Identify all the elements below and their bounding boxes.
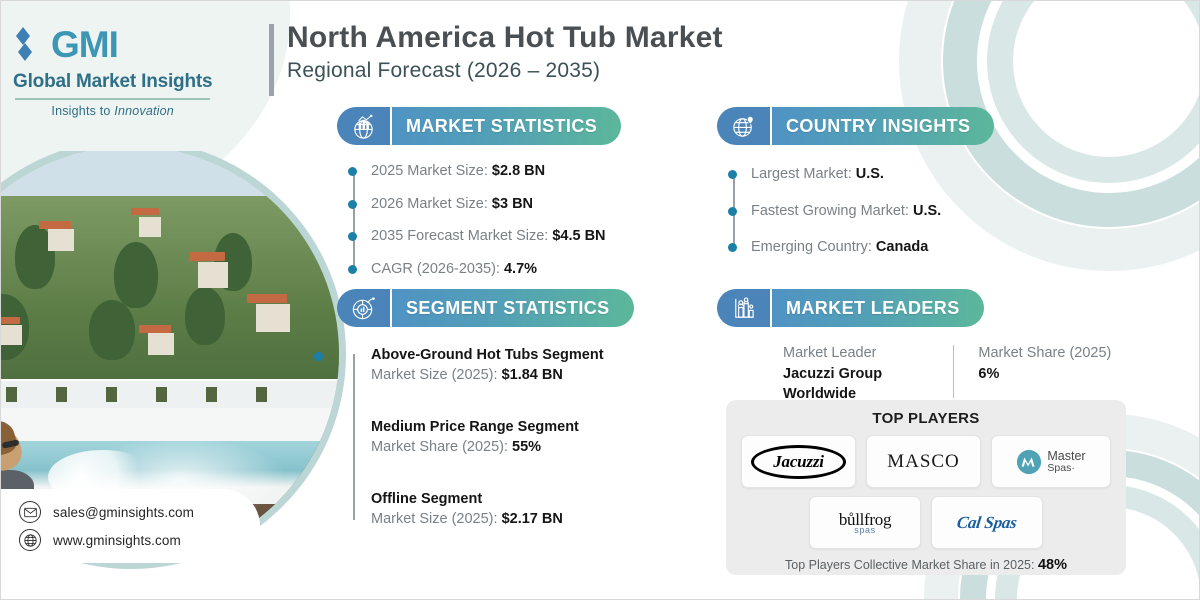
envelope-icon	[19, 501, 41, 523]
list-item: Fastest Growing Market: U.S.	[751, 202, 994, 222]
globe-pin-icon	[717, 107, 770, 145]
segment-metric-value: $1.84 BN	[502, 367, 563, 383]
stat-label: CAGR (2026-2035):	[371, 261, 504, 277]
donut-chart-icon	[337, 289, 390, 327]
contact-website: www.gminsights.com	[53, 533, 181, 548]
hot-tub-rim	[1, 408, 339, 441]
insight-label: Largest Market:	[751, 166, 856, 182]
stat-value: 4.7%	[504, 261, 537, 277]
tagline-part-1: Insights to	[51, 104, 114, 118]
market-statistics-list: 2025 Market Size: $2.8 BN 2026 Market Si…	[337, 162, 621, 279]
master-spas-line1: Master	[1047, 450, 1085, 463]
brand-tagline: Insights to Innovation	[13, 104, 212, 118]
timeline-dot	[348, 200, 357, 209]
segment-title: Offline Segment	[371, 491, 634, 507]
top-players-row-2: bůllfrog spas Cal Spas	[740, 496, 1112, 549]
segment-statistics-label: SEGMENT STATISTICS	[392, 289, 634, 327]
timeline-line	[353, 169, 355, 272]
arc-ring-hairline	[981, 1, 1199, 189]
market-share-value: 6%	[978, 365, 1111, 385]
stat-label: 2025 Market Size:	[371, 163, 492, 179]
brand-name: Global Market Insights	[13, 71, 212, 93]
insight-value: U.S.	[913, 203, 941, 219]
stat-value: $3 BN	[492, 196, 533, 212]
insight-value: U.S.	[856, 166, 884, 182]
list-item: Medium Price Range Segment Market Share …	[371, 419, 634, 455]
master-spas-line2: Spas·	[1047, 463, 1085, 474]
insight-label: Emerging Country:	[751, 239, 876, 255]
page-title: North America Hot Tub Market	[287, 19, 723, 57]
top-players-row-1: Jacuzzi MASCO Master Spas·	[740, 435, 1112, 488]
segment-statistics-list: Above-Ground Hot Tubs Segment Market Siz…	[337, 347, 634, 527]
collective-share-value: 48%	[1038, 557, 1067, 573]
stat-value: $2.8 BN	[492, 163, 545, 179]
segment-title: Above-Ground Hot Tubs Segment	[371, 347, 634, 363]
timeline-dot	[348, 265, 357, 274]
segment-metric-label: Market Size (2025):	[371, 511, 502, 527]
leaders-divider	[953, 345, 954, 398]
master-spas-mark-icon	[1016, 449, 1042, 475]
list-item: Emerging Country: Canada	[751, 238, 994, 258]
gmi-diamond-logo-icon	[13, 23, 47, 65]
market-leader-name-line1: Jacuzzi Group	[783, 365, 953, 385]
list-item: Largest Market: U.S.	[751, 165, 994, 185]
section-segment-statistics: SEGMENT STATISTICS Above-Ground Hot Tubs…	[337, 289, 634, 527]
cal-spas-wordmark: Cal Spas	[956, 513, 1018, 533]
segment-metric-label: Market Size (2025):	[371, 367, 502, 383]
insight-value: Canada	[876, 239, 928, 255]
list-item: 2025 Market Size: $2.8 BN	[371, 162, 621, 182]
contact-website-row[interactable]: www.gminsights.com	[19, 529, 260, 551]
stat-value: $4.5 BN	[552, 228, 605, 244]
player-logo-masco[interactable]: MASCO	[866, 435, 981, 488]
player-logo-master-spas[interactable]: Master Spas·	[991, 435, 1111, 488]
timeline-dot	[728, 207, 737, 216]
contact-panel: sales@gminsights.com www.gminsights.com	[0, 489, 260, 563]
timeline-dot	[728, 243, 737, 252]
segment-statistics-header[interactable]: SEGMENT STATISTICS	[337, 289, 634, 327]
market-leaders-header[interactable]: MARKET LEADERS	[717, 289, 1111, 327]
masco-wordmark: MASCO	[887, 451, 960, 473]
globe-bar-chart-icon	[337, 107, 390, 145]
player-logo-cal-spas[interactable]: Cal Spas	[931, 496, 1043, 549]
market-statistics-header[interactable]: MARKET STATISTICS	[337, 107, 621, 145]
segment-metric-value: 55%	[512, 439, 541, 455]
podium-ranking-icon	[717, 289, 770, 327]
list-item: Offline Segment Market Size (2025): $2.1…	[371, 491, 634, 527]
brand-divider	[15, 98, 210, 100]
balcony-railing	[1, 379, 339, 408]
timeline-dot	[728, 170, 737, 179]
list-item: CAGR (2026-2035): 4.7%	[371, 260, 621, 280]
segment-metric-value: $2.17 BN	[502, 511, 563, 527]
market-leader-label: Market Leader	[783, 343, 953, 363]
top-players-panel: TOP PLAYERS Jacuzzi MASCO Master Spas·	[726, 400, 1126, 575]
country-insights-label: COUNTRY INSIGHTS	[772, 107, 994, 145]
village-hillside	[1, 179, 339, 387]
page-header: North America Hot Tub Market Regional Fo…	[269, 19, 723, 83]
segment-title: Medium Price Range Segment	[371, 419, 634, 435]
country-insights-header[interactable]: COUNTRY INSIGHTS	[717, 107, 994, 145]
logo-letter-m: M	[79, 26, 109, 63]
stat-label: 2035 Forecast Market Size:	[371, 228, 552, 244]
list-item: 2035 Forecast Market Size: $4.5 BN	[371, 227, 621, 247]
timeline-line	[353, 354, 355, 520]
brand-logo[interactable]: GMI Global Market Insights Insights to I…	[13, 23, 212, 118]
timeline-dot	[348, 167, 357, 176]
page-subtitle: Regional Forecast (2026 – 2035)	[287, 59, 723, 83]
header-accent-bar	[269, 24, 274, 96]
top-players-footer: Top Players Collective Market Share in 2…	[740, 557, 1112, 573]
contact-email: sales@gminsights.com	[53, 505, 194, 520]
section-country-insights: COUNTRY INSIGHTS Largest Market: U.S. Fa…	[717, 107, 994, 258]
globe-icon	[19, 529, 41, 551]
list-item: Above-Ground Hot Tubs Segment Market Siz…	[371, 347, 634, 383]
country-insights-list: Largest Market: U.S. Fastest Growing Mar…	[717, 165, 994, 258]
arc-ring-inner	[987, 1, 1199, 183]
section-market-statistics: MARKET STATISTICS 2025 Market Size: $2.8…	[337, 107, 621, 279]
tagline-part-2: Innovation	[114, 104, 174, 118]
stat-label: 2026 Market Size:	[371, 196, 492, 212]
contact-email-row[interactable]: sales@gminsights.com	[19, 501, 260, 523]
logo-letter-i: I	[109, 26, 118, 63]
market-share-label: Market Share (2025)	[978, 343, 1111, 363]
market-leaders-label: MARKET LEADERS	[772, 289, 984, 327]
list-item: 2026 Market Size: $3 BN	[371, 195, 621, 215]
player-logo-bullfrog-spas[interactable]: bůllfrog spas	[809, 496, 921, 549]
market-leader-column: Market Leader Jacuzzi Group Worldwide	[783, 343, 953, 404]
section-market-leaders: MARKET LEADERS Market Leader Jacuzzi Gro…	[717, 289, 1111, 404]
timeline-dot	[348, 232, 357, 241]
player-logo-jacuzzi[interactable]: Jacuzzi	[741, 435, 856, 488]
segment-metric-label: Market Share (2025):	[371, 439, 512, 455]
timeline-dot	[314, 352, 323, 361]
jacuzzi-wordmark: Jacuzzi	[751, 445, 846, 479]
infographic-canvas: GMI Global Market Insights Insights to I…	[0, 0, 1200, 600]
market-statistics-label: MARKET STATISTICS	[392, 107, 621, 145]
logo-letter-g: G	[51, 26, 79, 63]
insight-label: Fastest Growing Market:	[751, 203, 913, 219]
top-players-title: TOP PLAYERS	[740, 410, 1112, 427]
market-share-column: Market Share (2025) 6%	[974, 343, 1111, 404]
market-leaders-body: Market Leader Jacuzzi Group Worldwide Ma…	[717, 343, 1111, 404]
collective-share-label: Top Players Collective Market Share in 2…	[785, 558, 1038, 572]
